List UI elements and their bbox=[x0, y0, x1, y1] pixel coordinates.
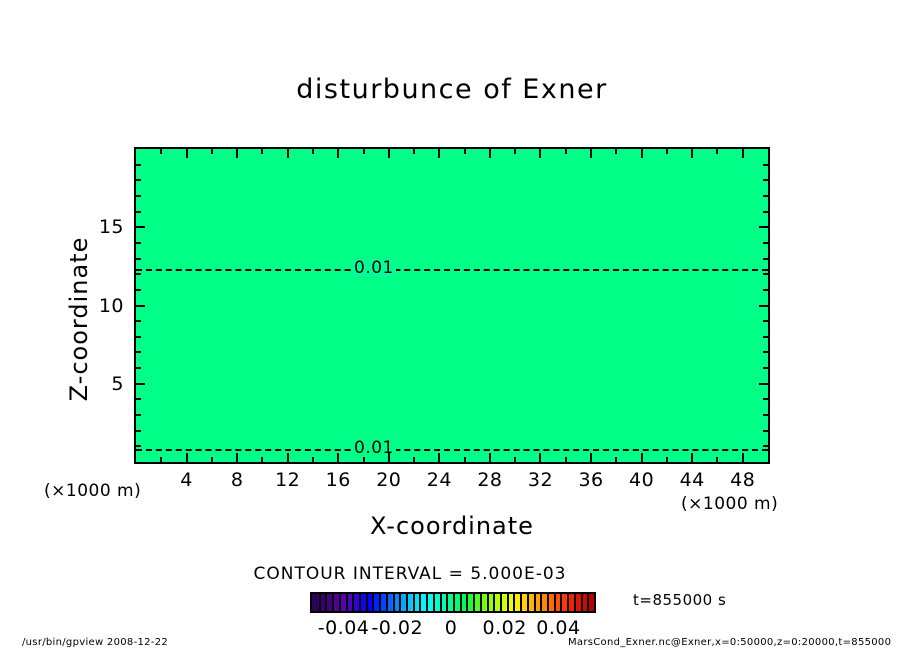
x-tick-label: 4 bbox=[180, 469, 193, 491]
contour-line bbox=[136, 449, 768, 451]
colorbar-tick-label: -0.02 bbox=[371, 617, 423, 639]
axis-tick bbox=[287, 453, 289, 462]
colorbar-separator bbox=[399, 594, 401, 611]
colorbar-separator bbox=[406, 594, 408, 611]
axis-tick bbox=[716, 149, 718, 154]
colorbar-tick-label: 0.04 bbox=[536, 617, 580, 639]
axis-tick bbox=[236, 453, 238, 462]
colorbar-separator bbox=[332, 594, 334, 611]
axis-tick bbox=[489, 149, 491, 158]
colorbar-separator bbox=[413, 594, 415, 611]
colorbar-tick-label: 0 bbox=[445, 617, 458, 639]
y-axis-title: Z-coordinate bbox=[65, 179, 93, 459]
axis-tick bbox=[759, 226, 768, 228]
axis-tick bbox=[464, 149, 466, 154]
colorbar-separator bbox=[560, 594, 562, 611]
colorbar-separator bbox=[339, 594, 341, 611]
colorbar-separator bbox=[527, 594, 529, 611]
axis-tick bbox=[615, 457, 617, 462]
axis-tick bbox=[716, 457, 718, 462]
colorbar-tick-label: -0.04 bbox=[318, 617, 370, 639]
x-axis-title: X-coordinate bbox=[134, 512, 770, 540]
axis-tick bbox=[691, 149, 693, 158]
axis-tick bbox=[759, 305, 768, 307]
colorbar-tick-label: 0.02 bbox=[483, 617, 527, 639]
axis-tick bbox=[312, 149, 314, 154]
axis-tick bbox=[186, 149, 188, 158]
axis-tick bbox=[438, 453, 440, 462]
axis-tick bbox=[489, 453, 491, 462]
colorbar-separator bbox=[473, 594, 475, 611]
footer-command-text: /usr/bin/gpview 2008-12-22 bbox=[22, 637, 168, 648]
axis-tick bbox=[763, 179, 768, 181]
colorbar-separator bbox=[359, 594, 361, 611]
x-tick-label: 20 bbox=[376, 469, 401, 491]
axis-tick bbox=[763, 289, 768, 291]
axis-tick bbox=[136, 320, 141, 322]
axis-tick bbox=[763, 367, 768, 369]
axis-tick bbox=[641, 453, 643, 462]
colorbar-separator bbox=[540, 594, 542, 611]
axis-tick bbox=[438, 149, 440, 158]
x-axis-unit-right: (×1000 m) bbox=[681, 494, 778, 514]
colorbar-separator bbox=[372, 594, 374, 611]
x-tick-label: 8 bbox=[231, 469, 244, 491]
colorbar-separator bbox=[587, 594, 589, 611]
contour-label: 0.01 bbox=[352, 260, 396, 277]
axis-tick bbox=[136, 273, 141, 275]
axis-tick bbox=[413, 149, 415, 154]
axis-tick bbox=[590, 453, 592, 462]
colorbar[interactable] bbox=[310, 592, 596, 613]
axis-tick bbox=[388, 453, 390, 462]
colorbar-separator bbox=[379, 594, 381, 611]
colorbar-separator bbox=[567, 594, 569, 611]
colorbar-separator bbox=[393, 594, 395, 611]
colorbar-separator bbox=[426, 594, 428, 611]
axis-tick bbox=[742, 149, 744, 158]
colorbar-separator bbox=[520, 594, 522, 611]
axis-tick bbox=[742, 453, 744, 462]
axis-tick bbox=[136, 226, 145, 228]
axis-tick bbox=[565, 457, 567, 462]
colorbar-separator bbox=[325, 594, 327, 611]
axis-tick bbox=[565, 149, 567, 154]
x-tick-label: 44 bbox=[680, 469, 705, 491]
contour-interval-label: CONTOUR INTERVAL = 5.000E-03 bbox=[0, 564, 862, 584]
axis-tick bbox=[337, 149, 339, 158]
axis-tick bbox=[136, 336, 141, 338]
x-tick-label: 12 bbox=[275, 469, 300, 491]
axis-tick bbox=[136, 289, 141, 291]
axis-tick bbox=[136, 445, 141, 447]
axis-tick bbox=[136, 242, 141, 244]
axis-tick bbox=[539, 453, 541, 462]
colorbar-separator bbox=[466, 594, 468, 611]
colorbar-separator bbox=[433, 594, 435, 611]
axis-tick bbox=[763, 336, 768, 338]
axis-tick bbox=[287, 149, 289, 158]
colorbar-separator bbox=[534, 594, 536, 611]
x-tick-label: 36 bbox=[578, 469, 603, 491]
footer-source-text: MarsCond_Exner.nc@Exner,x=0:50000,z=0:20… bbox=[568, 637, 891, 648]
axis-tick bbox=[136, 195, 141, 197]
contour-line bbox=[136, 269, 768, 271]
x-tick-label: 24 bbox=[427, 469, 452, 491]
colorbar-separator bbox=[493, 594, 495, 611]
axis-tick bbox=[763, 211, 768, 213]
colorbar-separator bbox=[453, 594, 455, 611]
axis-tick bbox=[666, 457, 668, 462]
x-tick-label: 16 bbox=[326, 469, 351, 491]
axis-tick bbox=[337, 453, 339, 462]
axis-tick bbox=[641, 149, 643, 158]
x-tick-label: 28 bbox=[477, 469, 502, 491]
axis-tick bbox=[763, 273, 768, 275]
axis-tick bbox=[413, 457, 415, 462]
axis-tick bbox=[763, 320, 768, 322]
axis-tick bbox=[136, 258, 141, 260]
axis-tick bbox=[136, 398, 141, 400]
axis-tick bbox=[691, 453, 693, 462]
axis-tick bbox=[211, 149, 213, 154]
axis-tick bbox=[136, 211, 141, 213]
colorbar-separator bbox=[513, 594, 515, 611]
axis-tick bbox=[136, 305, 145, 307]
axis-tick bbox=[160, 149, 162, 154]
axis-tick bbox=[261, 457, 263, 462]
colorbar-separators bbox=[312, 594, 594, 611]
axis-tick bbox=[763, 164, 768, 166]
axis-tick bbox=[363, 457, 365, 462]
colorbar-separator bbox=[319, 594, 321, 611]
axis-tick bbox=[539, 149, 541, 158]
axis-tick bbox=[514, 149, 516, 154]
axis-tick bbox=[763, 414, 768, 416]
x-tick-label: 32 bbox=[528, 469, 553, 491]
colorbar-separator bbox=[460, 594, 462, 611]
x-tick-label: 48 bbox=[730, 469, 755, 491]
page-title: disturbunce of Exner bbox=[0, 74, 904, 105]
axis-tick bbox=[160, 457, 162, 462]
time-label: t=855000 s bbox=[633, 591, 726, 609]
colorbar-separator bbox=[386, 594, 388, 611]
x-axis-unit-left: (×1000 m) bbox=[44, 481, 141, 501]
x-tick-label: 40 bbox=[629, 469, 654, 491]
axis-tick bbox=[388, 149, 390, 158]
colorbar-separator bbox=[507, 594, 509, 611]
axis-tick bbox=[615, 149, 617, 154]
axis-tick bbox=[186, 453, 188, 462]
axis-tick bbox=[590, 149, 592, 158]
axis-tick bbox=[763, 242, 768, 244]
axis-tick bbox=[136, 179, 141, 181]
colorbar-separator bbox=[446, 594, 448, 611]
axis-tick bbox=[763, 445, 768, 447]
axis-tick bbox=[514, 457, 516, 462]
axis-tick bbox=[763, 258, 768, 260]
axis-tick bbox=[464, 457, 466, 462]
colorbar-separator bbox=[352, 594, 354, 611]
axis-tick bbox=[211, 457, 213, 462]
colorbar-separator bbox=[487, 594, 489, 611]
axis-tick bbox=[763, 195, 768, 197]
axis-tick bbox=[759, 383, 768, 385]
axis-tick bbox=[666, 149, 668, 154]
colorbar-separator bbox=[480, 594, 482, 611]
colorbar-separator bbox=[554, 594, 556, 611]
colorbar-separator bbox=[419, 594, 421, 611]
axis-tick bbox=[763, 430, 768, 432]
colorbar-separator bbox=[346, 594, 348, 611]
contour-plot-area: 0.010.01 bbox=[134, 147, 770, 464]
colorbar-separator bbox=[581, 594, 583, 611]
axis-tick bbox=[136, 164, 141, 166]
axis-tick bbox=[763, 351, 768, 353]
axis-tick bbox=[261, 149, 263, 154]
colorbar-separator bbox=[500, 594, 502, 611]
colorbar-separator bbox=[574, 594, 576, 611]
contour-fill-layer bbox=[136, 149, 768, 462]
axis-tick bbox=[136, 383, 145, 385]
axis-tick bbox=[236, 149, 238, 158]
colorbar-separator bbox=[440, 594, 442, 611]
axis-tick bbox=[136, 430, 141, 432]
axis-tick bbox=[136, 414, 141, 416]
axis-tick bbox=[363, 149, 365, 154]
axis-tick bbox=[136, 367, 141, 369]
axis-tick bbox=[763, 398, 768, 400]
axis-tick bbox=[136, 351, 141, 353]
colorbar-separator bbox=[547, 594, 549, 611]
colorbar-separator bbox=[366, 594, 368, 611]
axis-tick bbox=[312, 457, 314, 462]
